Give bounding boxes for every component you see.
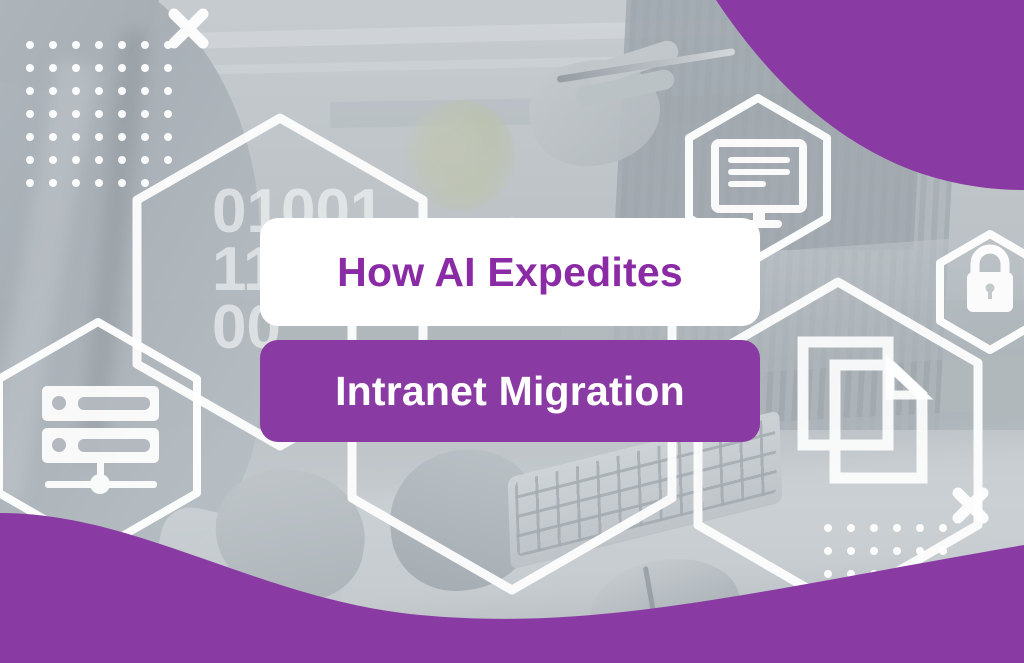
title-banner-white: How AI Expedites bbox=[260, 218, 760, 326]
title-banner-purple: Intranet Migration bbox=[260, 340, 760, 442]
purple-wave-top-right bbox=[716, 0, 1024, 190]
title-line-2: Intranet Migration bbox=[335, 368, 685, 415]
banner-graphic: 01001 11 00 bbox=[0, 0, 1024, 663]
purple-wave-bottom-left bbox=[0, 513, 1024, 663]
title-block: How AI Expedites Intranet Migration bbox=[260, 218, 760, 442]
title-line-1: How AI Expedites bbox=[337, 249, 683, 296]
